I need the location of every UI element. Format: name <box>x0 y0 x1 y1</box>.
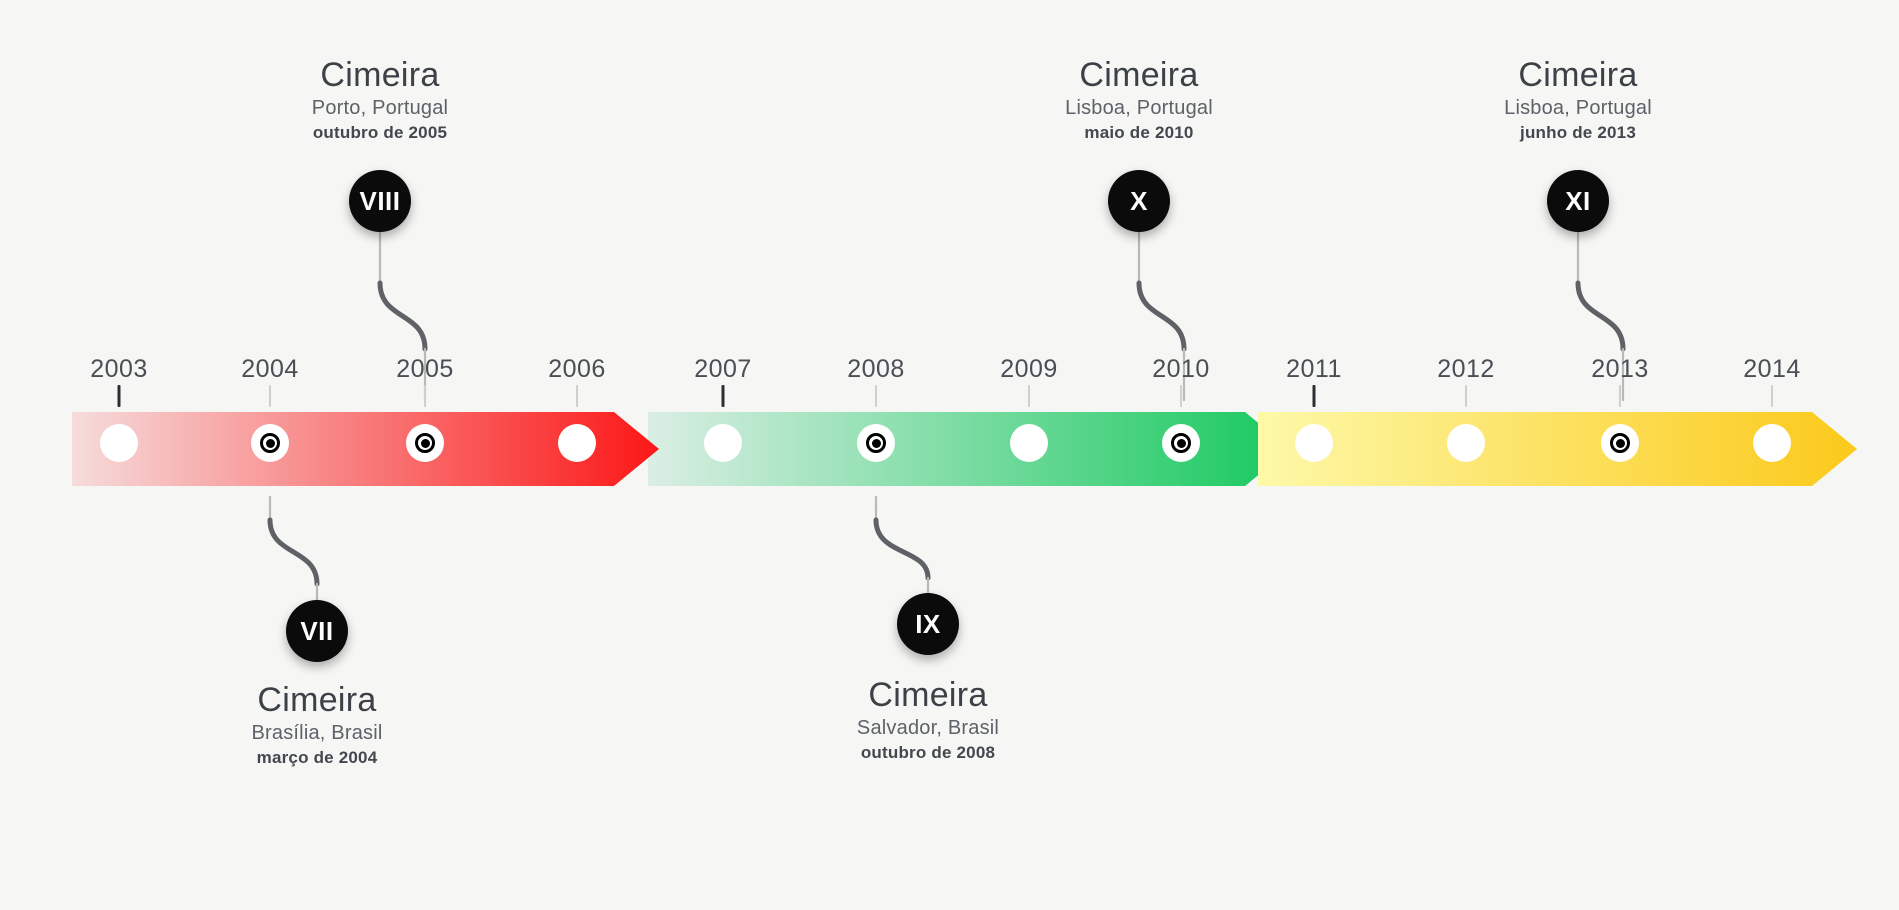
marker-ring-icon <box>1171 433 1191 453</box>
marker-2011[interactable] <box>1295 424 1333 462</box>
year-label-2013: 2013 <box>1591 355 1649 384</box>
marker-2010[interactable] <box>1162 424 1200 462</box>
event-date: outubro de 2005 <box>312 122 448 145</box>
event-date: outubro de 2008 <box>857 742 999 765</box>
year-tick-2003 <box>118 385 121 407</box>
year-tick-2006 <box>576 385 578 407</box>
year-label-2012: 2012 <box>1437 355 1495 384</box>
marker-2007[interactable] <box>704 424 742 462</box>
event-badge-summit-x[interactable]: X <box>1108 170 1170 232</box>
event-date: maio de 2010 <box>1065 122 1213 145</box>
year-label-2010: 2010 <box>1152 355 1210 384</box>
marker-ring-icon <box>1610 433 1630 453</box>
event-text-summit-viii: Cimeira Porto, Portugal outubro de 2005 <box>312 55 448 145</box>
event-text-summit-vii: Cimeira Brasília, Brasil março de 2004 <box>251 680 382 770</box>
event-badge-summit-xi[interactable]: XI <box>1547 170 1609 232</box>
year-tick-2005 <box>424 385 426 407</box>
event-place: Porto, Portugal <box>312 95 448 122</box>
event-date: março de 2004 <box>251 747 382 770</box>
event-text-summit-xi: Cimeira Lisboa, Portugal junho de 2013 <box>1504 55 1652 145</box>
event-place: Lisboa, Portugal <box>1504 95 1652 122</box>
year-tick-2008 <box>875 385 877 407</box>
connector-lines <box>270 232 1623 604</box>
year-tick-2007 <box>722 385 725 407</box>
year-label-2014: 2014 <box>1743 355 1801 384</box>
event-text-summit-ix: Cimeira Salvador, Brasil outubro de 2008 <box>857 675 999 765</box>
marker-2014[interactable] <box>1753 424 1791 462</box>
year-label-2005: 2005 <box>396 355 454 384</box>
year-label-2008: 2008 <box>847 355 905 384</box>
year-label-2011: 2011 <box>1286 355 1342 384</box>
event-date: junho de 2013 <box>1504 122 1652 145</box>
event-badge-summit-viii[interactable]: VIII <box>349 170 411 232</box>
year-tick-2004 <box>269 385 271 407</box>
marker-2009[interactable] <box>1010 424 1048 462</box>
marker-2012[interactable] <box>1447 424 1485 462</box>
year-tick-2010 <box>1180 385 1182 407</box>
event-title: Cimeira <box>312 55 448 95</box>
year-label-2003: 2003 <box>90 355 148 384</box>
event-text-summit-x: Cimeira Lisboa, Portugal maio de 2010 <box>1065 55 1213 145</box>
year-tick-2013 <box>1619 385 1621 407</box>
marker-ring-icon <box>260 433 280 453</box>
year-label-2007: 2007 <box>694 355 752 384</box>
event-title: Cimeira <box>1065 55 1213 95</box>
year-tick-2012 <box>1465 385 1467 407</box>
event-title: Cimeira <box>857 675 999 715</box>
event-place: Lisboa, Portugal <box>1065 95 1213 122</box>
marker-2008[interactable] <box>857 424 895 462</box>
year-tick-2009 <box>1028 385 1030 407</box>
marker-2006[interactable] <box>558 424 596 462</box>
marker-2004[interactable] <box>251 424 289 462</box>
year-tick-2011 <box>1313 385 1316 407</box>
year-label-2004: 2004 <box>241 355 299 384</box>
marker-ring-icon <box>415 433 435 453</box>
year-label-2009: 2009 <box>1000 355 1058 384</box>
event-badge-summit-ix[interactable]: IX <box>897 593 959 655</box>
marker-2003[interactable] <box>100 424 138 462</box>
marker-ring-icon <box>866 433 886 453</box>
event-place: Brasília, Brasil <box>251 720 382 747</box>
event-title: Cimeira <box>251 680 382 720</box>
marker-2013[interactable] <box>1601 424 1639 462</box>
timeline-infographic: 2003 2004 2005 2006 2007 2008 2009 2010 … <box>0 0 1899 910</box>
event-place: Salvador, Brasil <box>857 715 999 742</box>
event-badge-summit-vii[interactable]: VII <box>286 600 348 662</box>
event-title: Cimeira <box>1504 55 1652 95</box>
marker-2005[interactable] <box>406 424 444 462</box>
year-label-2006: 2006 <box>548 355 606 384</box>
year-tick-2014 <box>1771 385 1773 407</box>
